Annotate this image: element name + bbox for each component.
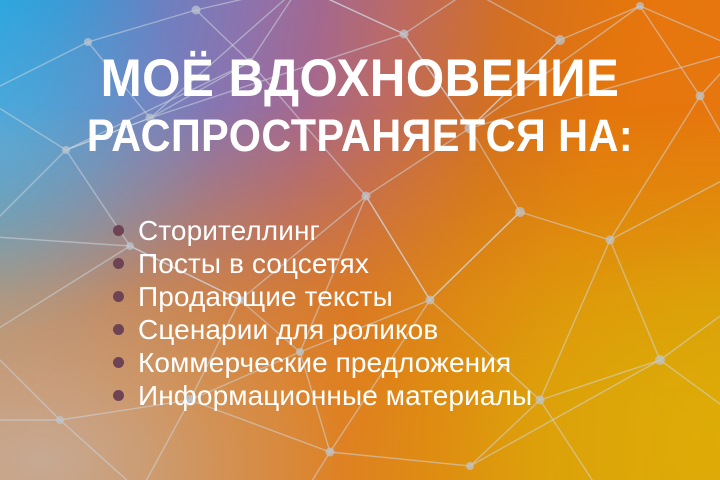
- bullet-dot-icon: [113, 357, 124, 368]
- bullet-dot-icon: [113, 258, 124, 269]
- list-item: Продающие тексты: [113, 280, 532, 313]
- list-item: Информационные материалы: [113, 379, 532, 412]
- list-item-label: Посты в соцсетях: [138, 250, 369, 278]
- bullet-dot-icon: [113, 225, 124, 236]
- bullet-dot-icon: [113, 291, 124, 302]
- list-item-label: Коммерческие предложения: [138, 349, 511, 377]
- list-item: Сторителлинг: [113, 214, 532, 247]
- poster-content: МОЁ ВДОХНОВЕНИЕ РАСПРОСТРАНЯЕТСЯ НА: Сто…: [0, 0, 720, 480]
- list-item: Посты в соцсетях: [113, 247, 532, 280]
- list-item: Коммерческие предложения: [113, 346, 532, 379]
- list-item-label: Информационные материалы: [138, 382, 532, 410]
- list-item: Сценарии для роликов: [113, 313, 532, 346]
- list-item-label: Сторителлинг: [138, 217, 320, 245]
- poster-canvas: МОЁ ВДОХНОВЕНИЕ РАСПРОСТРАНЯЕТСЯ НА: Сто…: [0, 0, 720, 480]
- list-item-label: Сценарии для роликов: [138, 316, 438, 344]
- inspiration-list: Сторителлинг Посты в соцсетях Продающие …: [113, 214, 532, 412]
- title-line-1: МОЁ ВДОХНОВЕНИЕ: [25, 52, 695, 105]
- poster-title: МОЁ ВДОХНОВЕНИЕ РАСПРОСТРАНЯЕТСЯ НА:: [0, 52, 720, 158]
- list-item-label: Продающие тексты: [138, 283, 393, 311]
- bullet-dot-icon: [113, 324, 124, 335]
- bullet-dot-icon: [113, 390, 124, 401]
- title-line-2: РАСПРОСТРАНЯЕТСЯ НА:: [29, 113, 691, 158]
